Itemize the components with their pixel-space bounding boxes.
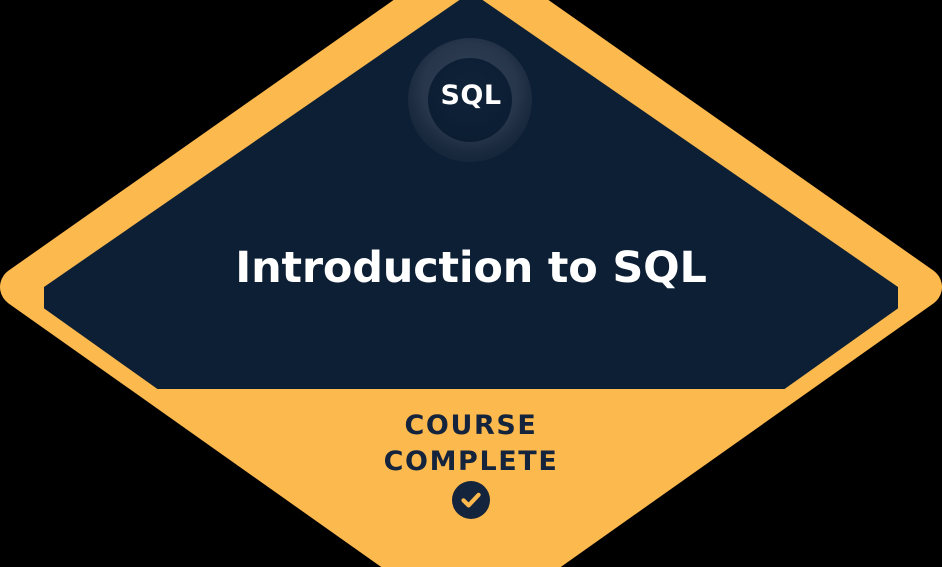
logo-ring-inner: [428, 58, 512, 142]
course-completion-badge: SQL Introduction to SQL COURSE COMPLETE: [0, 0, 942, 567]
check-badge-container: [0, 481, 942, 519]
logo-ring-group: [408, 38, 532, 162]
check-icon: [452, 481, 490, 519]
